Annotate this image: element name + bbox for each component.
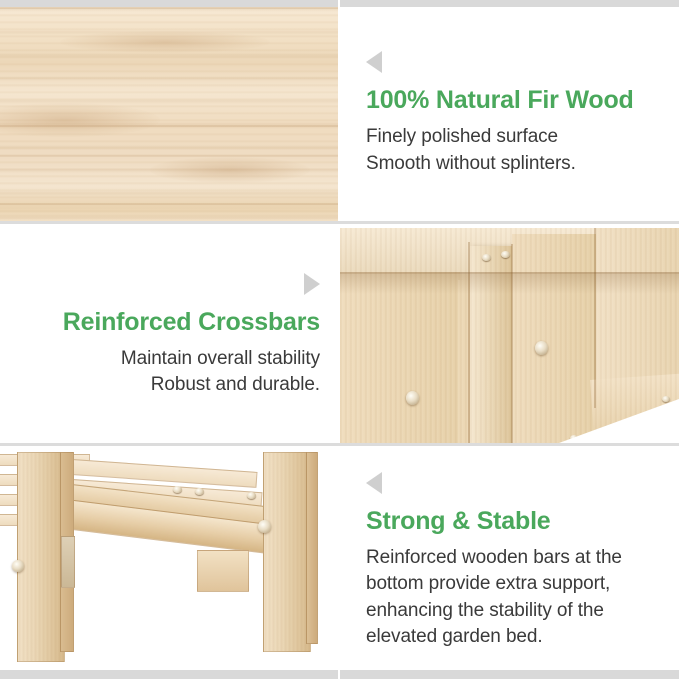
edge-shadow bbox=[340, 272, 679, 294]
screw-head bbox=[501, 251, 510, 258]
photo-right-margin bbox=[318, 452, 338, 670]
body-line: bottom provide extra support, bbox=[366, 571, 622, 597]
wood-knot bbox=[150, 157, 310, 183]
vertical-gutter bbox=[338, 0, 340, 679]
panel-body: Finely polished surface Smooth without s… bbox=[366, 124, 576, 176]
leg-right bbox=[263, 452, 311, 652]
triangle-left-icon bbox=[366, 472, 382, 494]
photo-plank-panel-screws bbox=[340, 228, 679, 443]
panel-reinforced-crossbars: Reinforced Crossbars Maintain overall st… bbox=[0, 228, 338, 443]
screw-head bbox=[12, 560, 24, 572]
screw-head bbox=[195, 488, 204, 495]
panel-body: Maintain overall stability Robust and du… bbox=[121, 346, 320, 398]
screw-head bbox=[482, 254, 491, 261]
triangle-right-icon bbox=[304, 273, 320, 295]
row-divider bbox=[0, 443, 679, 446]
body-line: Robust and durable. bbox=[121, 372, 320, 398]
photo-fir-board-closeup bbox=[0, 7, 338, 221]
body-line: elevated garden bed. bbox=[366, 624, 622, 650]
screw-head bbox=[258, 520, 271, 533]
panel-heading: 100% Natural Fir Wood bbox=[366, 85, 634, 116]
dowel-plug bbox=[406, 391, 419, 405]
body-line: Reinforced wooden bars at the bbox=[366, 545, 622, 571]
leg-right-side-face bbox=[306, 452, 318, 644]
crossbar-end-block bbox=[197, 550, 249, 592]
panel-strong-and-stable: Strong & Stable Reinforced wooden bars a… bbox=[340, 452, 679, 670]
body-line: enhancing the stability of the bbox=[366, 598, 622, 624]
screw-head bbox=[247, 492, 256, 499]
panel-heading: Strong & Stable bbox=[366, 506, 551, 537]
body-line: Maintain overall stability bbox=[121, 346, 320, 372]
background-gap bbox=[78, 592, 260, 670]
panel-body: Reinforced wooden bars at the bottom pro… bbox=[366, 545, 622, 650]
plank-seam bbox=[594, 228, 596, 408]
panel-heading: Reinforced Crossbars bbox=[63, 307, 320, 338]
body-line: Smooth without splinters. bbox=[366, 151, 576, 177]
row-divider bbox=[0, 221, 679, 224]
leg-left bbox=[17, 452, 65, 662]
panel-natural-fir-wood: 100% Natural Fir Wood Finely polished su… bbox=[340, 7, 679, 221]
photo-legs-and-crossbars bbox=[0, 452, 338, 670]
screw-head bbox=[173, 486, 182, 493]
triangle-left-icon bbox=[366, 51, 382, 73]
plank-panel bbox=[340, 228, 679, 443]
leg-bracket bbox=[61, 536, 75, 588]
body-line: Finely polished surface bbox=[366, 124, 576, 150]
wood-knot bbox=[60, 31, 270, 53]
photo-corner-cutout bbox=[559, 399, 679, 443]
product-feature-infographic: 100% Natural Fir Wood Finely polished su… bbox=[0, 0, 679, 679]
dowel-plug bbox=[535, 341, 548, 355]
